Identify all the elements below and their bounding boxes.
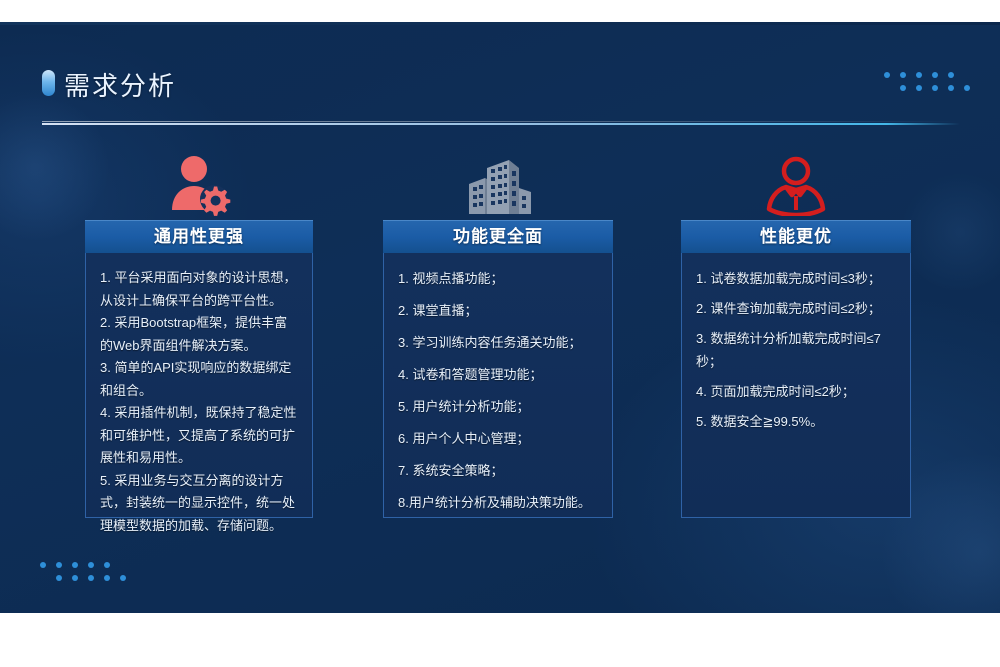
list-item: 3. 学习训练内容任务通关功能； (398, 331, 600, 354)
businessperson-icon (681, 150, 911, 216)
feature-card-generality: 通用性更强 1. 平台采用面向对象的设计思想，从设计上确保平台的跨平台性。 2.… (85, 220, 313, 518)
list-item: 5. 用户统计分析功能； (398, 395, 600, 418)
list-item: 2. 课堂直播； (398, 299, 600, 322)
list-item: 1. 视频点播功能； (398, 267, 600, 290)
list-item: 8.用户统计分析及辅助决策功能。 (398, 491, 600, 514)
feature-card-functionality: 功能更全面 1. 视频点播功能； 2. 课堂直播； 3. 学习训练内容任务通关功… (383, 220, 613, 518)
card-body: 1. 试卷数据加载完成时间≤3秒； 2. 课件查询加载完成时间≤2秒； 3. 数… (681, 253, 911, 518)
decor-glow-top-right (900, 172, 1000, 292)
card-body: 1. 视频点播功能； 2. 课堂直播； 3. 学习训练内容任务通关功能； 4. … (383, 253, 613, 518)
dot (884, 72, 890, 78)
list-item: 3. 简单的API实现响应的数据绑定和组合。 (100, 357, 300, 402)
dot (964, 72, 970, 78)
dot-grid-top-right (884, 72, 980, 98)
dot (88, 575, 94, 581)
list-item: 1. 试卷数据加载完成时间≤3秒； (696, 267, 898, 290)
slide-canvas: 需求分析 通用性更强 1. 平台采用面向对象的设计思想，从设计上确保平台的跨平台… (0, 22, 1000, 613)
list-item: 1. 平台采用面向对象的设计思想，从设计上确保平台的跨平台性。 (100, 267, 300, 312)
dot (916, 85, 922, 91)
dot (104, 575, 110, 581)
list-item: 2. 采用Bootstrap框架，提供丰富的Web界面组件解决方案。 (100, 312, 300, 357)
list-item: 5. 数据安全≧99.5%。 (696, 410, 898, 433)
dot (884, 85, 890, 91)
feature-card-performance: 性能更优 1. 试卷数据加载完成时间≤3秒； 2. 课件查询加载完成时间≤2秒；… (681, 220, 911, 518)
title-underline (42, 123, 960, 125)
dot (948, 85, 954, 91)
user-settings-icon (85, 150, 313, 216)
dot (72, 575, 78, 581)
dot (964, 85, 970, 91)
title-bullet-icon (42, 70, 55, 96)
dot (932, 85, 938, 91)
card-title: 功能更全面 (383, 220, 613, 253)
buildings-icon (383, 150, 613, 216)
dot (40, 562, 46, 568)
list-item: 5. 采用业务与交互分离的设计方式，封装统一的显示控件，统一处理模型数据的加载、… (100, 470, 300, 538)
list-item: 4. 页面加载完成时间≤2秒； (696, 380, 898, 403)
page-title: 需求分析 (64, 66, 176, 103)
dot (900, 72, 906, 78)
dot (40, 575, 46, 581)
dot (948, 72, 954, 78)
card-title: 通用性更强 (85, 220, 313, 253)
dot (120, 575, 126, 581)
dot (916, 72, 922, 78)
list-item: 4. 试卷和答题管理功能； (398, 363, 600, 386)
title-underline-highlight (42, 121, 960, 122)
list-item: 7. 系统安全策略； (398, 459, 600, 482)
dot (88, 562, 94, 568)
dot-grid-bottom-left (40, 562, 136, 588)
dot (56, 562, 62, 568)
list-item: 3. 数据统计分析加载完成时间≤7秒； (696, 327, 898, 373)
dot (932, 72, 938, 78)
dot (72, 562, 78, 568)
card-body: 1. 平台采用面向对象的设计思想，从设计上确保平台的跨平台性。 2. 采用Boo… (85, 253, 313, 518)
list-item: 4. 采用插件机制，既保持了稳定性和可维护性，又提高了系统的可扩展性和易用性。 (100, 402, 300, 470)
dot (56, 575, 62, 581)
list-item: 6. 用户个人中心管理； (398, 427, 600, 450)
list-item: 2. 课件查询加载完成时间≤2秒； (696, 297, 898, 320)
card-title: 性能更优 (681, 220, 911, 253)
dot (120, 562, 126, 568)
slide-header: 需求分析 (0, 22, 1000, 122)
dot (104, 562, 110, 568)
dot (900, 85, 906, 91)
